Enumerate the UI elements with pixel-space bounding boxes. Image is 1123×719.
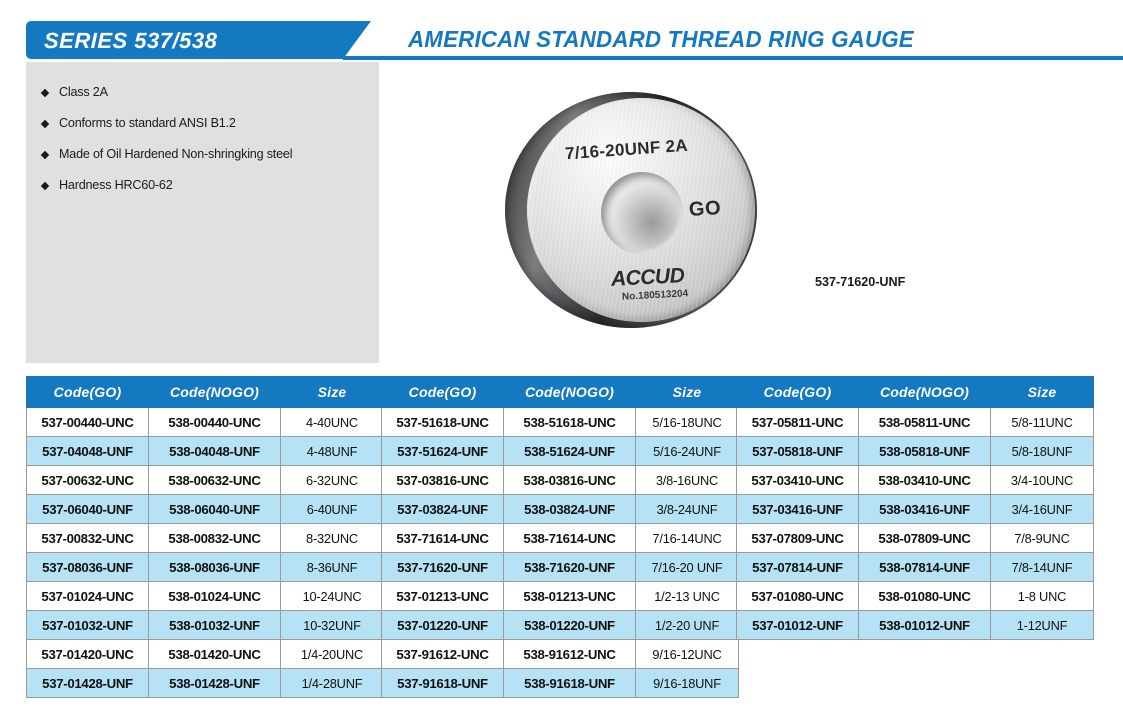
table-row: 537-05818-UNF538-05818-UNF5/8-18UNF [737, 437, 1094, 466]
column-header-code-nogo: Code(NOGO) [504, 377, 636, 408]
cell-size: 1/4-28UNF [281, 669, 384, 698]
cell-code-nogo: 538-00832-UNC [149, 524, 281, 553]
page-header: SERIES 537/538 AMERICAN STANDARD THREAD … [0, 0, 1123, 62]
product-photo: 7/16-20UNF 2A GO ACCUD No.180513204 [505, 92, 788, 330]
cell-code-nogo: 538-08036-UNF [149, 553, 281, 582]
cell-code-nogo: 538-91618-UNF [504, 669, 636, 698]
column-header-size: Size [991, 377, 1094, 408]
diamond-bullet-icon [41, 89, 49, 97]
table-row: 537-06040-UNF538-06040-UNF6-40UNF [27, 495, 384, 524]
cell-code-go: 537-03416-UNF [737, 495, 859, 524]
table-row: 537-05811-UNC538-05811-UNC5/8-11UNC [737, 408, 1094, 437]
table-body: 537-00440-UNC538-00440-UNC4-40UNC537-040… [27, 408, 384, 698]
list-item: Class 2A [42, 85, 292, 99]
table-row: 537-91618-UNF538-91618-UNF9/16-18UNF [382, 669, 739, 698]
feature-text: Class 2A [59, 85, 108, 99]
cell-size: 1-12UNF [991, 611, 1094, 640]
cell-size: 8-32UNC [281, 524, 384, 553]
gauge-spec-marking: 7/16-20UNF 2A [564, 136, 688, 165]
table-row: 537-01428-UNF538-01428-UNF1/4-28UNF [27, 669, 384, 698]
cell-size: 7/8-14UNF [991, 553, 1094, 582]
cell-code-go: 537-01012-UNF [737, 611, 859, 640]
table-row: 537-04048-UNF538-04048-UNF4-48UNF [27, 437, 384, 466]
column-header-size: Size [636, 377, 739, 408]
cell-size: 5/16-18UNC [636, 408, 739, 437]
cell-size: 1-8 UNC [991, 582, 1094, 611]
column-header-code-go: Code(GO) [737, 377, 859, 408]
cell-size: 5/8-11UNC [991, 408, 1094, 437]
cell-code-go: 537-06040-UNF [27, 495, 149, 524]
series-tag-label: SERIES 537/538 [44, 28, 218, 54]
cell-size: 7/16-14UNC [636, 524, 739, 553]
cell-code-go: 537-51624-UNF [382, 437, 504, 466]
table-row: 537-07809-UNC538-07809-UNC7/8-9UNC [737, 524, 1094, 553]
cell-code-go: 537-71620-UNF [382, 553, 504, 582]
table-row: 537-01012-UNF538-01012-UNF1-12UNF [737, 611, 1094, 640]
cell-size: 3/4-16UNF [991, 495, 1094, 524]
cell-size: 5/8-18UNF [991, 437, 1094, 466]
diamond-bullet-icon [41, 151, 49, 159]
table-row: 537-01024-UNC538-01024-UNC10-24UNC [27, 582, 384, 611]
column-header-code-nogo: Code(NOGO) [859, 377, 991, 408]
cell-code-nogo: 538-04048-UNF [149, 437, 281, 466]
cell-size: 1/4-20UNC [281, 640, 384, 669]
cell-code-nogo: 538-03816-UNC [504, 466, 636, 495]
spec-table-1: Code(GO) Code(NOGO) Size 537-00440-UNC53… [26, 376, 384, 698]
cell-size: 3/8-24UNF [636, 495, 739, 524]
feature-text: Conforms to standard ANSI B1.2 [59, 116, 236, 130]
cell-size: 8-36UNF [281, 553, 384, 582]
cell-code-go: 537-03410-UNC [737, 466, 859, 495]
cell-code-nogo: 538-01428-UNF [149, 669, 281, 698]
cell-size: 10-24UNC [281, 582, 384, 611]
cell-code-nogo: 538-51618-UNC [504, 408, 636, 437]
cell-code-go: 537-03816-UNC [382, 466, 504, 495]
column-header-size: Size [281, 377, 384, 408]
gauge-brand-logo: ACCUD [610, 264, 684, 292]
column-header-code-nogo: Code(NOGO) [149, 377, 281, 408]
list-item: Made of Oil Hardened Non-shringking stee… [42, 147, 292, 161]
column-header-code-go: Code(GO) [27, 377, 149, 408]
cell-code-go: 537-05811-UNC [737, 408, 859, 437]
cell-code-go: 537-91612-UNC [382, 640, 504, 669]
cell-size: 4-48UNF [281, 437, 384, 466]
page-title: AMERICAN STANDARD THREAD RING GAUGE [408, 26, 914, 53]
cell-code-nogo: 538-03410-UNC [859, 466, 991, 495]
diamond-bullet-icon [41, 120, 49, 128]
cell-code-nogo: 538-01220-UNF [504, 611, 636, 640]
cell-code-nogo: 538-01420-UNC [149, 640, 281, 669]
cell-code-nogo: 538-51624-UNF [504, 437, 636, 466]
feature-text: Made of Oil Hardened Non-shringking stee… [59, 147, 292, 161]
cell-code-nogo: 538-01012-UNF [859, 611, 991, 640]
cell-code-nogo: 538-03824-UNF [504, 495, 636, 524]
header-divider [343, 56, 1123, 60]
list-item: Conforms to standard ANSI B1.2 [42, 116, 292, 130]
table-row: 537-01420-UNC538-01420-UNC1/4-20UNC [27, 640, 384, 669]
gauge-go-marking: GO [688, 197, 721, 222]
cell-code-go: 537-01032-UNF [27, 611, 149, 640]
cell-code-go: 537-05818-UNF [737, 437, 859, 466]
cell-code-go: 537-00440-UNC [27, 408, 149, 437]
cell-code-nogo: 538-01080-UNC [859, 582, 991, 611]
features-list: Class 2A Conforms to standard ANSI B1.2 … [42, 85, 292, 209]
table-row: 537-71620-UNF538-71620-UNF7/16-20 UNF [382, 553, 739, 582]
cell-code-go: 537-00632-UNC [27, 466, 149, 495]
series-tag-banner: SERIES 537/538 [26, 21, 371, 59]
cell-size: 1/2-13 UNC [636, 582, 739, 611]
cell-size: 9/16-18UNF [636, 669, 739, 698]
cell-code-go: 537-01420-UNC [27, 640, 149, 669]
table-header-row: Code(GO) Code(NOGO) Size [737, 377, 1094, 408]
table-row: 537-00632-UNC538-00632-UNC6-32UNC [27, 466, 384, 495]
thread-ring-gauge-body: 7/16-20UNF 2A GO ACCUD No.180513204 [505, 92, 757, 328]
table-body: 537-51618-UNC538-51618-UNC5/16-18UNC537-… [382, 408, 739, 698]
table-row: 537-71614-UNC538-71614-UNC7/16-14UNC [382, 524, 739, 553]
table-row: 537-01220-UNF538-01220-UNF1/2-20 UNF [382, 611, 739, 640]
table-header-row: Code(GO) Code(NOGO) Size [382, 377, 739, 408]
cell-code-nogo: 538-03416-UNF [859, 495, 991, 524]
cell-size: 6-32UNC [281, 466, 384, 495]
cell-size: 9/16-12UNC [636, 640, 739, 669]
cell-size: 7/16-20 UNF [636, 553, 739, 582]
cell-size: 1/2-20 UNF [636, 611, 739, 640]
cell-code-nogo: 538-71614-UNC [504, 524, 636, 553]
cell-size: 6-40UNF [281, 495, 384, 524]
cell-code-go: 537-08036-UNF [27, 553, 149, 582]
column-header-code-go: Code(GO) [382, 377, 504, 408]
feature-text: Hardness HRC60-62 [59, 178, 173, 192]
cell-code-nogo: 538-01213-UNC [504, 582, 636, 611]
table-row: 537-91612-UNC538-91612-UNC9/16-12UNC [382, 640, 739, 669]
cell-code-nogo: 538-01024-UNC [149, 582, 281, 611]
cell-code-go: 537-07814-UNF [737, 553, 859, 582]
cell-size: 4-40UNC [281, 408, 384, 437]
cell-code-go: 537-01080-UNC [737, 582, 859, 611]
cell-code-nogo: 538-07809-UNC [859, 524, 991, 553]
cell-code-nogo: 538-00632-UNC [149, 466, 281, 495]
cell-code-go: 537-04048-UNF [27, 437, 149, 466]
cell-code-go: 537-51618-UNC [382, 408, 504, 437]
table-row: 537-01080-UNC538-01080-UNC1-8 UNC [737, 582, 1094, 611]
cell-code-nogo: 538-01032-UNF [149, 611, 281, 640]
cell-size: 3/8-16UNC [636, 466, 739, 495]
cell-size: 5/16-24UNF [636, 437, 739, 466]
cell-code-nogo: 538-91612-UNC [504, 640, 636, 669]
cell-code-nogo: 538-71620-UNF [504, 553, 636, 582]
cell-code-go: 537-71614-UNC [382, 524, 504, 553]
table-row: 537-00832-UNC538-00832-UNC8-32UNC [27, 524, 384, 553]
list-item: Hardness HRC60-62 [42, 178, 292, 192]
cell-code-go: 537-00832-UNC [27, 524, 149, 553]
table-row: 537-03816-UNC538-03816-UNC3/8-16UNC [382, 466, 739, 495]
table-row: 537-51618-UNC538-51618-UNC5/16-18UNC [382, 408, 739, 437]
cell-code-go: 537-01220-UNF [382, 611, 504, 640]
table-row: 537-01032-UNF538-01032-UNF10-32UNF [27, 611, 384, 640]
table-row: 537-03410-UNC538-03410-UNC3/4-10UNC [737, 466, 1094, 495]
cell-code-nogo: 538-05818-UNF [859, 437, 991, 466]
spec-table-2: Code(GO) Code(NOGO) Size 537-51618-UNC53… [381, 376, 739, 698]
cell-code-go: 537-91618-UNF [382, 669, 504, 698]
cell-code-nogo: 538-05811-UNC [859, 408, 991, 437]
gauge-face: 7/16-20UNF 2A GO ACCUD No.180513204 [527, 98, 755, 322]
cell-code-go: 537-01428-UNF [27, 669, 149, 698]
cell-code-nogo: 538-06040-UNF [149, 495, 281, 524]
cell-code-go: 537-03824-UNF [382, 495, 504, 524]
table-row: 537-01213-UNC538-01213-UNC1/2-13 UNC [382, 582, 739, 611]
diamond-bullet-icon [41, 182, 49, 190]
table-body: 537-05811-UNC538-05811-UNC5/8-11UNC537-0… [737, 408, 1094, 640]
spec-table-3: Code(GO) Code(NOGO) Size 537-05811-UNC53… [736, 376, 1094, 640]
table-row: 537-03824-UNF538-03824-UNF3/8-24UNF [382, 495, 739, 524]
cell-code-go: 537-01213-UNC [382, 582, 504, 611]
cell-code-nogo: 538-00440-UNC [149, 408, 281, 437]
cell-size: 3/4-10UNC [991, 466, 1094, 495]
cell-code-nogo: 538-07814-UNF [859, 553, 991, 582]
table-row: 537-00440-UNC538-00440-UNC4-40UNC [27, 408, 384, 437]
cell-code-go: 537-01024-UNC [27, 582, 149, 611]
table-row: 537-51624-UNF538-51624-UNF5/16-24UNF [382, 437, 739, 466]
table-row: 537-08036-UNF538-08036-UNF8-36UNF [27, 553, 384, 582]
gauge-bore-hole [601, 172, 683, 254]
cell-code-go: 537-07809-UNC [737, 524, 859, 553]
table-row: 537-07814-UNF538-07814-UNF7/8-14UNF [737, 553, 1094, 582]
cell-size: 10-32UNF [281, 611, 384, 640]
table-header-row: Code(GO) Code(NOGO) Size [27, 377, 384, 408]
features-panel: Class 2A Conforms to standard ANSI B1.2 … [26, 62, 379, 363]
cell-size: 7/8-9UNC [991, 524, 1094, 553]
product-caption: 537-71620-UNF [815, 275, 905, 289]
table-row: 537-03416-UNF538-03416-UNF3/4-16UNF [737, 495, 1094, 524]
gauge-serial-number: No.180513204 [622, 288, 689, 302]
